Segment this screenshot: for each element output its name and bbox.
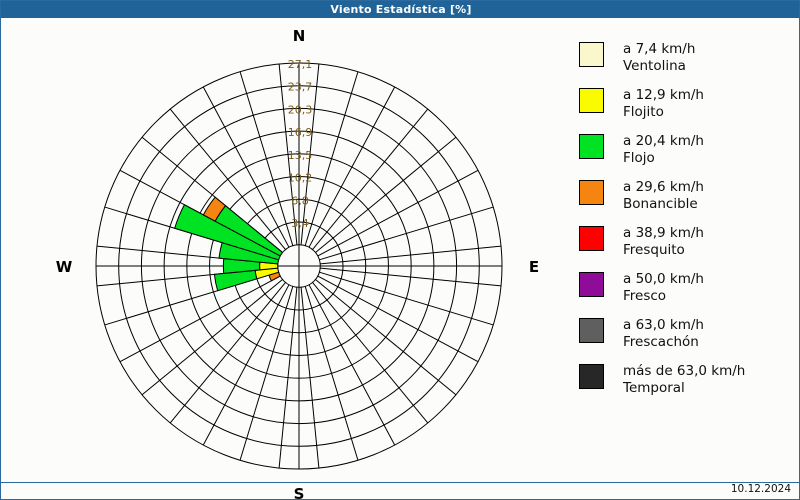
legend-label: a 29,6 km/hBonancible [623, 179, 704, 213]
legend-color-swatch [579, 226, 604, 251]
legend-label: a 50,0 km/hFresco [623, 271, 704, 305]
compass-label-s: S [294, 485, 305, 500]
legend-color-swatch [579, 180, 604, 205]
legend-color-swatch [579, 318, 604, 343]
date-stamp: 10.12.2024 [731, 483, 791, 495]
legend-speed: más de 63,0 km/h [623, 363, 745, 379]
wind-statistics-window: Viento Estadística [%] 3,46,810,213,516,… [0, 0, 800, 500]
legend-item[interactable]: a 50,0 km/hFresco [579, 271, 797, 309]
legend-label: a 20,4 km/hFlojo [623, 133, 704, 167]
legend-item[interactable]: a 29,6 km/hBonancible [579, 179, 797, 217]
grid-group [96, 63, 502, 469]
legend-label: a 63,0 km/hFrescachón [623, 317, 704, 351]
grid-spoke [305, 72, 358, 246]
radial-tick-label: 23,7 [288, 81, 313, 94]
legend-speed: a 63,0 km/h [623, 317, 704, 333]
compass-label-w: W [56, 258, 73, 276]
radial-tick-label: 20,3 [288, 103, 313, 116]
radial-tick-label: 27,1 [288, 58, 313, 71]
radial-tick-label: 10,2 [288, 172, 313, 185]
compass-label-e: E [529, 258, 539, 276]
radial-tick-label: 13,5 [288, 149, 313, 162]
radial-tick-label: 3,4 [291, 217, 309, 230]
window-title: Viento Estadística [%] [330, 3, 471, 16]
legend-label: a 7,4 km/hVentolina [623, 41, 695, 75]
legend-item[interactable]: más de 63,0 km/hTemporal [579, 363, 797, 401]
legend-speed: a 50,0 km/h [623, 271, 704, 287]
legend-color-swatch [579, 364, 604, 389]
legend-name: Frescachón [623, 334, 704, 351]
legend-speed: a 7,4 km/h [623, 41, 695, 57]
grid-spoke [305, 286, 358, 460]
wind-rose-svg: 3,46,810,213,516,920,323,727,1NESW [1, 19, 573, 500]
grid-spoke [240, 286, 293, 460]
legend-name: Fresquito [623, 242, 704, 259]
compass-label-n: N [293, 27, 306, 45]
grid-spoke [319, 272, 493, 325]
legend-speed: a 20,4 km/h [623, 133, 704, 149]
legend-name: Bonancible [623, 196, 704, 213]
legend-color-swatch [579, 42, 604, 67]
grid-spoke [240, 72, 293, 246]
compass-labels: NESW [56, 27, 539, 500]
legend-color-swatch [579, 88, 604, 113]
legend-item[interactable]: a 20,4 km/hFlojo [579, 133, 797, 171]
radial-tick-label: 6,8 [291, 194, 309, 207]
radial-tick-labels: 3,46,810,213,516,920,323,727,1 [288, 58, 313, 230]
legend-name: Flojito [623, 104, 704, 121]
legend-label: más de 63,0 km/hTemporal [623, 363, 745, 397]
legend-item[interactable]: a 63,0 km/hFrescachón [579, 317, 797, 355]
legend-name: Temporal [623, 380, 745, 397]
legend-color-swatch [579, 272, 604, 297]
footer-divider [1, 482, 799, 483]
legend-name: Ventolina [623, 58, 695, 75]
wind-rose-plot: 3,46,810,213,516,920,323,727,1NESW [1, 19, 573, 500]
legend: a 7,4 km/hVentolinaa 12,9 km/hFlojitoa 2… [579, 41, 797, 409]
radial-tick-label: 16,9 [288, 126, 313, 139]
legend-name: Flojo [623, 150, 704, 167]
window-title-bar: Viento Estadística [%] [1, 1, 800, 18]
legend-item[interactable]: a 38,9 km/hFresquito [579, 225, 797, 263]
legend-speed: a 29,6 km/h [623, 179, 704, 195]
legend-speed: a 12,9 km/h [623, 87, 704, 103]
legend-label: a 12,9 km/hFlojito [623, 87, 704, 121]
grid-spoke [319, 207, 493, 260]
legend-name: Fresco [623, 288, 704, 305]
legend-item[interactable]: a 7,4 km/hVentolina [579, 41, 797, 79]
legend-label: a 38,9 km/hFresquito [623, 225, 704, 259]
legend-color-swatch [579, 134, 604, 159]
legend-item[interactable]: a 12,9 km/hFlojito [579, 87, 797, 125]
legend-speed: a 38,9 km/h [623, 225, 704, 241]
